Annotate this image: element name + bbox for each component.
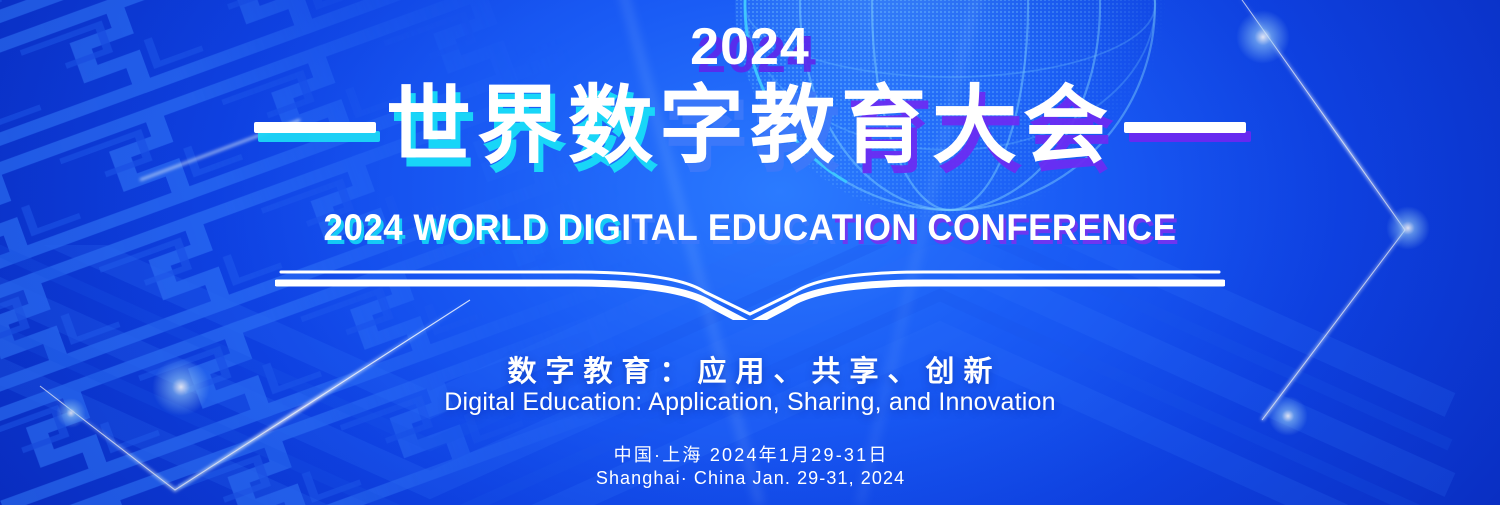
page-title: 世界数字教育大会 (382, 84, 1118, 171)
year-label: 2024 (0, 17, 1500, 77)
title-cn-part-1: 世界数 (386, 79, 659, 174)
conference-banner: 2024 世界数字教育大会 2024 WORLD DIGITAL EDUCATI… (0, 0, 1500, 505)
location-date-chinese: 中国·上海 2024年1月29-31日 (0, 441, 1500, 467)
banner-content: 2024 世界数字教育大会 2024 WORLD DIGITAL EDUCATI… (0, 0, 1500, 505)
title-accent-bar-left (254, 122, 376, 133)
title-en-part-2: ITAL EDUCA (621, 207, 831, 248)
title-cn-part-2: 字教 (659, 79, 841, 174)
theme-english: Digital Education: Application, Sharing,… (0, 388, 1500, 417)
location-date-english: Shanghai· China Jan. 29-31, 2024 (0, 468, 1500, 489)
theme-chinese: 数字教育：应用、共享、创新 (0, 348, 1500, 390)
title-accent-bar-right (1124, 122, 1246, 133)
main-title-row: 世界数字教育大会 (0, 84, 1500, 171)
open-book-divider (0, 258, 1500, 320)
title-en-part-3: TION CONFERENCE (832, 207, 1177, 248)
title-cn-part-3: 育大会 (841, 79, 1114, 174)
page-subtitle-english: 2024 WORLD DIGITAL EDUCATION CONFERENCE (45, 207, 1455, 249)
title-en-part-1: 2024 WORLD DIG (324, 207, 622, 248)
